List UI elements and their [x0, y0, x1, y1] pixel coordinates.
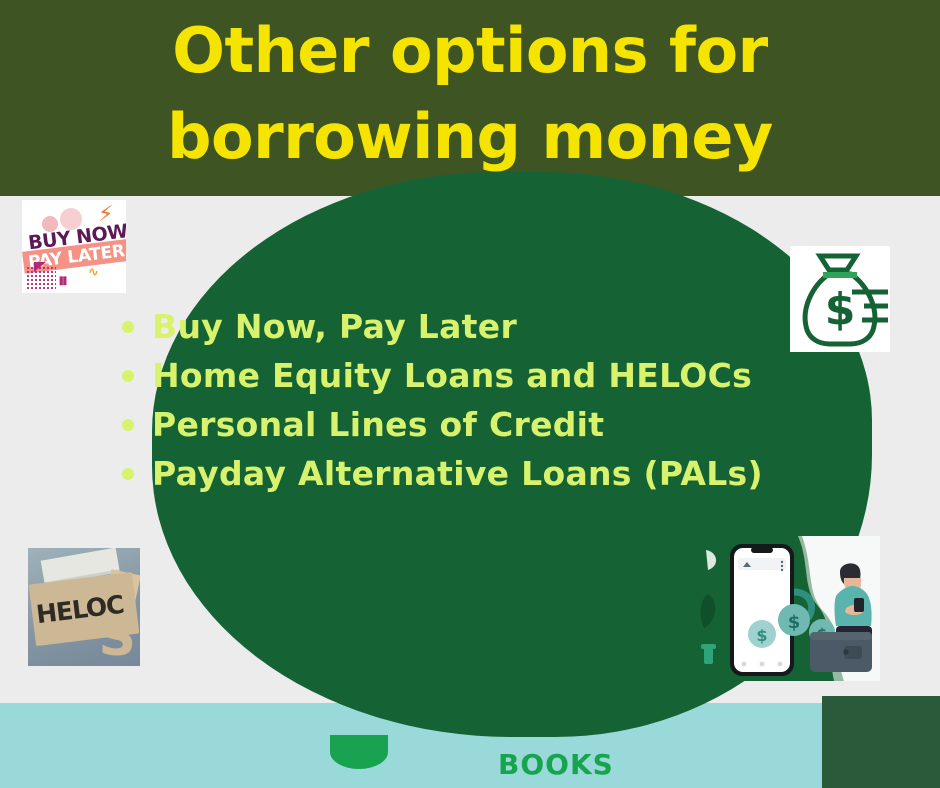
triangle-decoration — [34, 262, 46, 272]
title-line-2: borrowing money — [0, 94, 940, 180]
heloc-photo: HELOC S — [28, 548, 140, 666]
svg-text:$: $ — [788, 612, 801, 633]
bullet-dot-icon — [122, 419, 134, 431]
small-zigzag-icon: ∿ — [88, 266, 99, 279]
page-title: Other options for borrowing money — [0, 8, 940, 180]
list-item: Personal Lines of Credit — [122, 404, 882, 453]
mobile-payment-illustration: $ $ $ — [694, 536, 880, 681]
money-bag-icon: $ — [790, 246, 890, 352]
list-item: Buy Now, Pay Later — [122, 306, 882, 355]
heloc-letter-s: S — [99, 612, 136, 664]
list-item: Home Equity Loans and HELOCs — [122, 355, 882, 404]
bullet-dot-icon — [122, 468, 134, 480]
list-item-label: Buy Now, Pay Later — [152, 306, 517, 348]
list-item-label: Home Equity Loans and HELOCs — [152, 355, 752, 397]
footer-logo-text: BOOKS — [498, 748, 614, 781]
list-item-label: Payday Alternative Loans (PALs) — [152, 453, 763, 495]
buy-now-pay-later-graphic: ⚡ BUY NOW, PAY LATER ⏸ ∿ — [22, 200, 126, 293]
svg-text:$: $ — [756, 626, 767, 645]
dollar-symbol: $ — [825, 284, 856, 335]
list-item-label: Personal Lines of Credit — [152, 404, 604, 446]
zigzag-icon: ⏸ — [58, 270, 68, 290]
list-item: Payday Alternative Loans (PALs) — [122, 453, 882, 502]
bullet-dot-icon — [122, 370, 134, 382]
title-line-1: Other options for — [0, 8, 940, 94]
infographic-canvas: BOOKS Other options for borrowing money … — [0, 0, 940, 788]
blob-notch-shape — [330, 735, 388, 769]
bullet-dot-icon — [122, 321, 134, 333]
footer-olive-corner — [822, 696, 940, 788]
options-list: Buy Now, Pay Later Home Equity Loans and… — [122, 306, 882, 502]
